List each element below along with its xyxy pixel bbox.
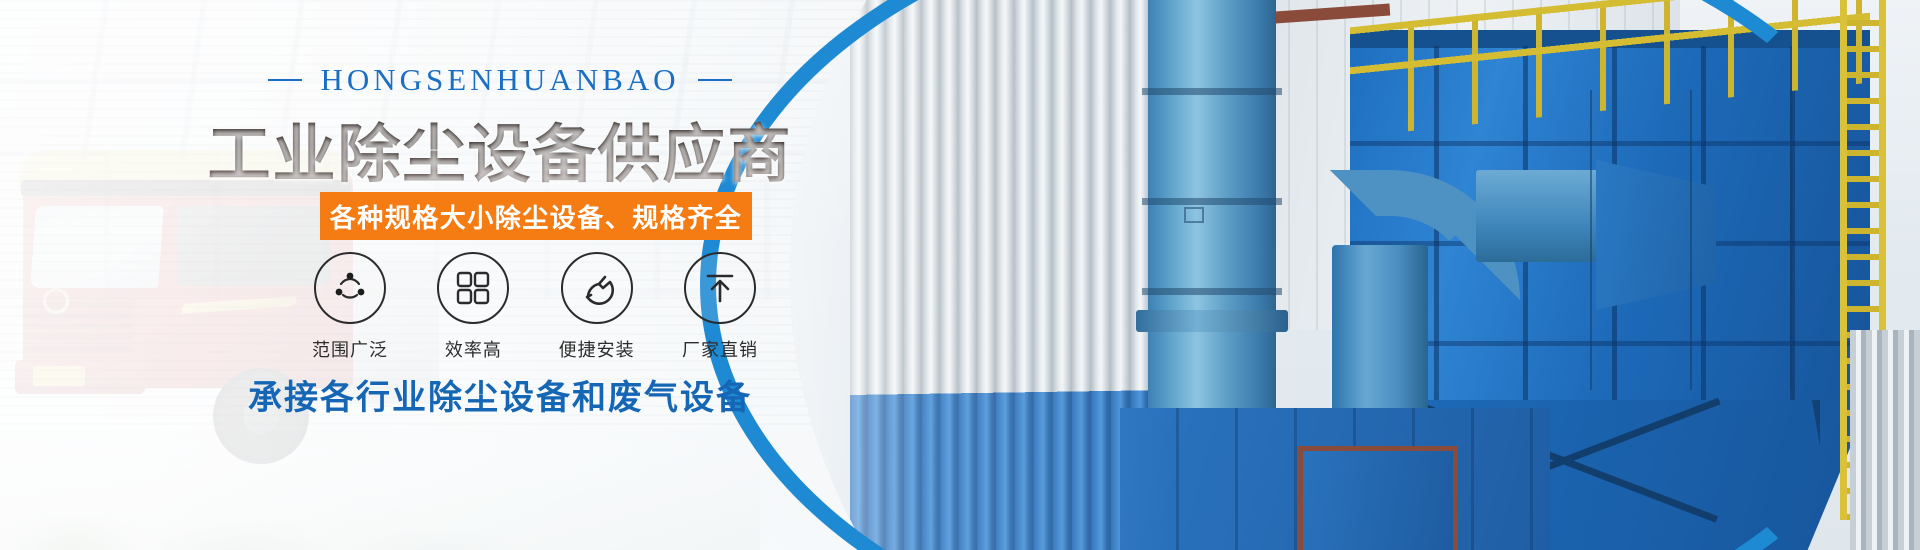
page-title: 工业除尘设备供应商 xyxy=(0,104,1000,195)
brand-eyebrow: HONGSENHUANBAO xyxy=(0,62,1000,98)
subhead-text: 各种规格大小除尘设备、规格齐全 xyxy=(330,198,743,235)
banner-tagline: 承接各行业除尘设备和废气设备 xyxy=(0,370,1000,419)
network-nodes-icon xyxy=(314,252,386,324)
banner-content: HONGSENHUANBAO 工业除尘设备供应商 各种规格大小除尘设备、规格齐全 xyxy=(0,0,1000,550)
arrow-up-to-line-icon xyxy=(684,252,756,324)
dash-left-icon xyxy=(268,79,302,81)
grid-squares-icon xyxy=(437,252,509,324)
feature-label: 范围广泛 xyxy=(300,336,400,362)
hero-banner: HONGSENHUANBAO 工业除尘设备供应商 各种规格大小除尘设备、规格齐全 xyxy=(0,0,1920,550)
feature-list: 范围广泛 效率高 xyxy=(300,252,770,362)
dash-right-icon xyxy=(698,79,732,81)
feature-item-scope[interactable]: 范围广泛 xyxy=(300,252,400,362)
feature-item-direct-sales[interactable]: 厂家直销 xyxy=(670,252,770,362)
feature-label: 效率高 xyxy=(423,336,523,362)
feature-item-efficiency[interactable]: 效率高 xyxy=(423,252,523,362)
subhead-orange-bar: 各种规格大小除尘设备、规格齐全 xyxy=(320,192,752,240)
wrench-cycle-icon xyxy=(561,252,633,324)
feature-label: 便捷安装 xyxy=(547,336,647,362)
feature-item-installation[interactable]: 便捷安装 xyxy=(547,252,647,362)
feature-label: 厂家直销 xyxy=(670,336,770,362)
brand-eyebrow-text: HONGSENHUANBAO xyxy=(320,62,679,98)
